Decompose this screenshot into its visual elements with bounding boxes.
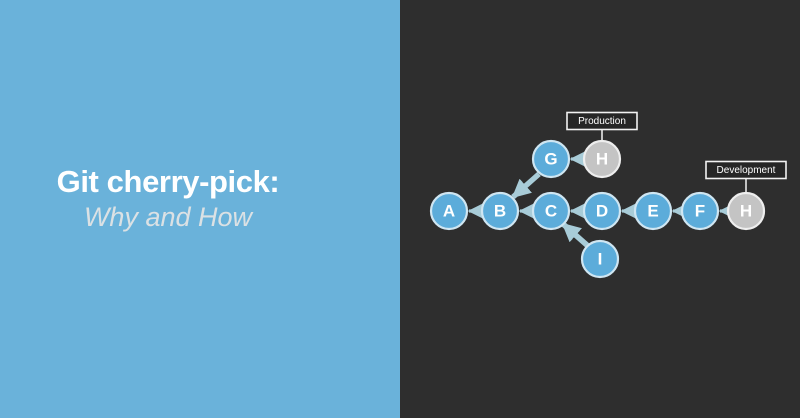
branch-tag-production[interactable]: Production <box>567 113 637 130</box>
commit-label: B <box>494 202 506 221</box>
edge-i-to-c <box>563 224 588 246</box>
commit-label: H <box>596 150 608 169</box>
branch-tag-development[interactable]: Development <box>706 162 786 179</box>
diagram-panel: A B C D E <box>400 0 800 418</box>
commit-label: G <box>544 150 557 169</box>
tag-label: Production <box>578 116 626 127</box>
hero-text-block: Git cherry-pick: Why and How <box>0 165 400 234</box>
commit-node-h-production[interactable]: H <box>584 141 620 177</box>
commit-label: E <box>647 202 658 221</box>
commit-node-h-development[interactable]: H <box>728 193 764 229</box>
commit-node-a[interactable]: A <box>431 193 467 229</box>
commit-node-d[interactable]: D <box>584 193 620 229</box>
git-commit-graph: A B C D E <box>400 0 800 418</box>
hero-panel: Git cherry-pick: Why and How <box>0 0 400 418</box>
commit-label: H <box>740 202 752 221</box>
tag-label: Development <box>717 165 776 176</box>
edge-g-to-b <box>513 174 539 197</box>
commit-label: I <box>598 250 603 269</box>
commit-label: C <box>545 202 557 221</box>
commit-node-e[interactable]: E <box>635 193 671 229</box>
commit-label: D <box>596 202 608 221</box>
commit-node-b[interactable]: B <box>482 193 518 229</box>
commit-node-i[interactable]: I <box>582 241 618 277</box>
slide-canvas: Git cherry-pick: Why and How <box>0 0 800 418</box>
commit-node-f[interactable]: F <box>682 193 718 229</box>
commit-node-g[interactable]: G <box>533 141 569 177</box>
page-subtitle: Why and How <box>0 202 336 233</box>
page-title: Git cherry-pick: <box>0 165 336 198</box>
commit-label: F <box>695 202 705 221</box>
commit-label: A <box>443 202 455 221</box>
commit-node-c[interactable]: C <box>533 193 569 229</box>
